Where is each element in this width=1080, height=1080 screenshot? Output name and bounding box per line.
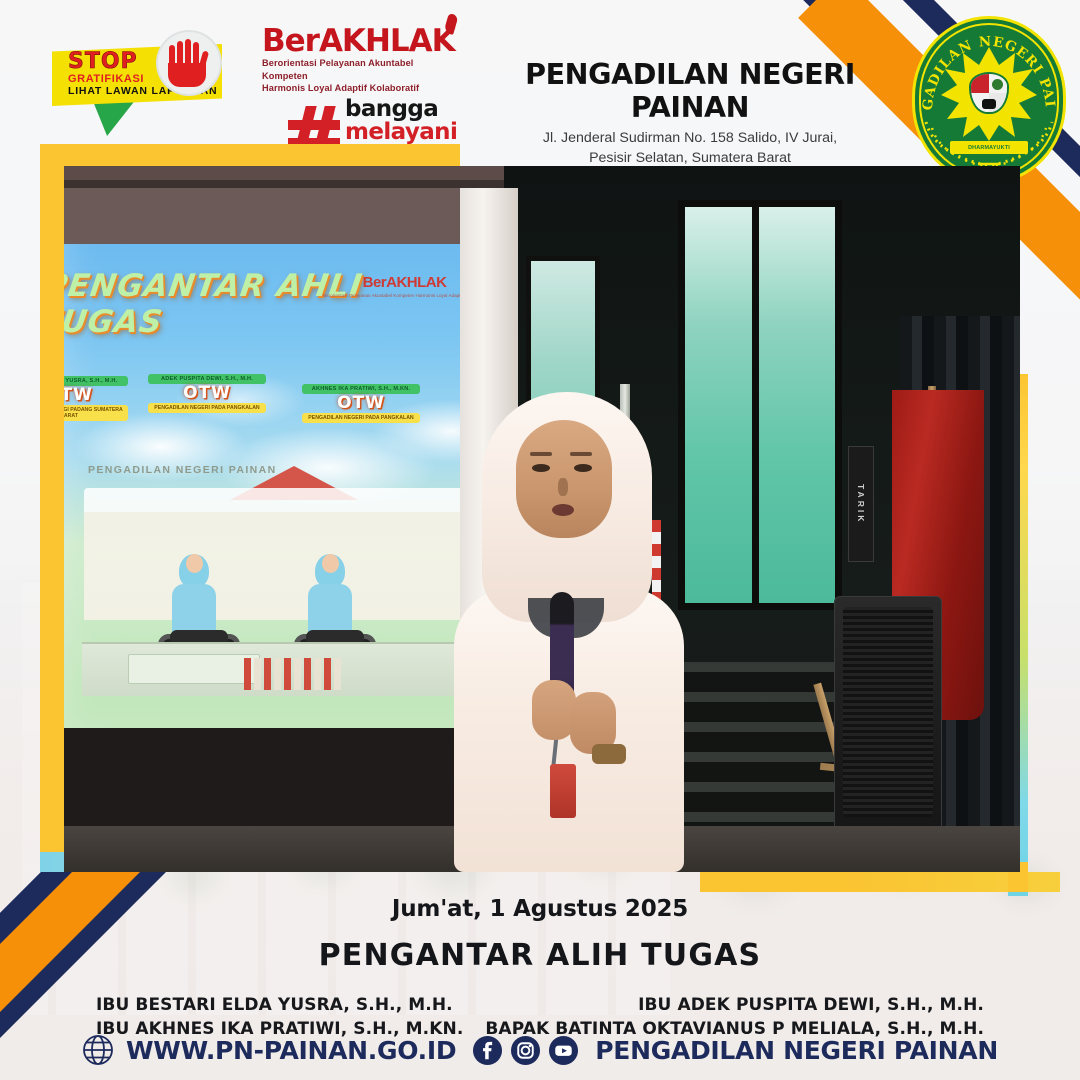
frame-border-left bbox=[40, 144, 64, 872]
otw-card-destination: PENGADILAN NEGERI PADA PANGKALAN bbox=[302, 413, 420, 423]
slide-otw-card: ADEK PUSPITA DEWI, S.H., M.H. OTW PENGAD… bbox=[148, 374, 266, 413]
instagram-icon[interactable] bbox=[510, 1035, 541, 1066]
emblem-shield-icon bbox=[969, 72, 1009, 114]
caption-block: Jum'at, 1 Agustus 2025 PENGANTAR ALIH TU… bbox=[0, 896, 1080, 1045]
otw-card-destination: PENGADILAN TINGGI PADANG SUMATERA BARAT bbox=[64, 405, 128, 421]
stop-gratifikasi-logo: STOP GRATIFIKASI LIHAT LAWAN LAPORKAN bbox=[44, 22, 222, 134]
photo-frame: PENGANTAR AHLI TUGAS BerAKHLAK Berorient… bbox=[40, 144, 1040, 896]
window-mullion bbox=[752, 200, 759, 610]
bangga-line-2: melayani bbox=[345, 121, 457, 144]
stop-hand-icon bbox=[158, 32, 220, 94]
frame-border-bottom-offset bbox=[700, 872, 1060, 892]
page-title: PENGADILAN NEGERI PAINAN bbox=[470, 58, 910, 124]
presenter-eye bbox=[532, 464, 550, 472]
participant-name: IBU ADEK PUSPITA DEWI, S.H., M.H. bbox=[638, 995, 984, 1015]
event-date: Jum'at, 1 Agustus 2025 bbox=[0, 896, 1080, 922]
otw-card-destination: PENGADILAN NEGERI PADA PANGKALAN bbox=[148, 403, 266, 413]
participant-name: IBU BESTARI ELDA YUSRA, S.H., M.H. bbox=[96, 995, 453, 1015]
berakhlak-tagline-2: Harmonis Loyal Adaptif Kolaboratif bbox=[262, 82, 452, 95]
website-url[interactable]: WWW.PN-PAINAN.GO.ID bbox=[126, 1036, 456, 1065]
slide-otw-card: AKHNES IKA PRATIWI, S.H., M.KN. OTW PENG… bbox=[302, 384, 420, 423]
facebook-icon[interactable] bbox=[472, 1035, 503, 1066]
screen-top-bar bbox=[64, 188, 504, 244]
photo-scene: PENGANTAR AHLI TUGAS BerAKHLAK Berorient… bbox=[64, 166, 1020, 872]
berakhlak-text: BerAKHLAK bbox=[262, 23, 455, 59]
presenter-id-badge bbox=[550, 764, 576, 818]
slide-plaque bbox=[128, 654, 260, 684]
presenter-watch bbox=[592, 744, 626, 764]
presenter-nose bbox=[558, 478, 568, 496]
youtube-icon[interactable] bbox=[548, 1035, 579, 1066]
social-links bbox=[472, 1035, 579, 1066]
frame-border-top bbox=[40, 144, 460, 166]
slide-building bbox=[84, 488, 484, 620]
projection-screen: PENGANTAR AHLI TUGAS BerAKHLAK Berorient… bbox=[64, 188, 504, 728]
tarik-sign: TARIK bbox=[848, 446, 874, 562]
berakhlak-tagline-1: Berorientasi Pelayanan Akuntabel Kompete… bbox=[262, 57, 452, 82]
slide-otw-card: BESTARI ELDA YUSRA, S.H., M.H. OTW PENGA… bbox=[64, 376, 128, 421]
otw-badge: OTW bbox=[148, 384, 266, 403]
bangga-line-1: bangga bbox=[345, 98, 457, 121]
social-account-name: PENGADILAN NEGERI PAINAN bbox=[595, 1036, 998, 1065]
footer-bar: WWW.PN-PAINAN.GO.ID PENGADILAN NEGERI PA… bbox=[0, 1028, 1080, 1072]
otw-badge: OTW bbox=[302, 394, 420, 413]
presenter-eye bbox=[574, 464, 592, 472]
name-row: IBU BESTARI ELDA YUSRA, S.H., M.H. IBU A… bbox=[0, 995, 1080, 1015]
presenter-eyebrow bbox=[570, 452, 592, 456]
berakhlak-logo: BerAKHLAK Berorientasi Pelayanan Akuntab… bbox=[262, 26, 452, 95]
event-title: PENGANTAR ALIH TUGAS bbox=[0, 938, 1080, 973]
room-window bbox=[678, 200, 842, 610]
presenter bbox=[454, 392, 684, 872]
speaker-grill bbox=[843, 607, 933, 817]
slide-books bbox=[244, 658, 341, 690]
event-photo: PENGANTAR AHLI TUGAS BerAKHLAK Berorient… bbox=[64, 166, 1020, 872]
presenter-eyebrow bbox=[530, 452, 552, 456]
globe-icon bbox=[82, 1034, 114, 1066]
slide-building-caption: PENGADILAN NEGERI PAINAN bbox=[88, 464, 277, 476]
berakhlak-wordmark: BerAKHLAK bbox=[262, 26, 452, 57]
otw-badge: OTW bbox=[64, 386, 128, 405]
presenter-mouth bbox=[552, 504, 574, 516]
